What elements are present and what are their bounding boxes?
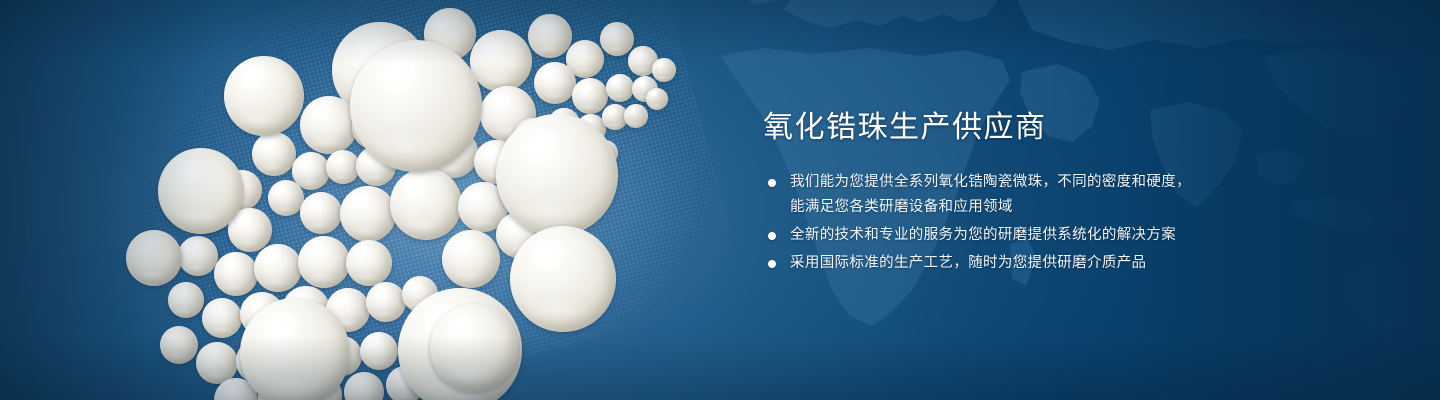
hero-banner: 氧化锆珠生产供应商 我们能为您提供全系列氧化锆陶瓷微珠，不同的密度和硬度， 能满… (0, 0, 1440, 400)
background-vignette (0, 0, 1440, 400)
